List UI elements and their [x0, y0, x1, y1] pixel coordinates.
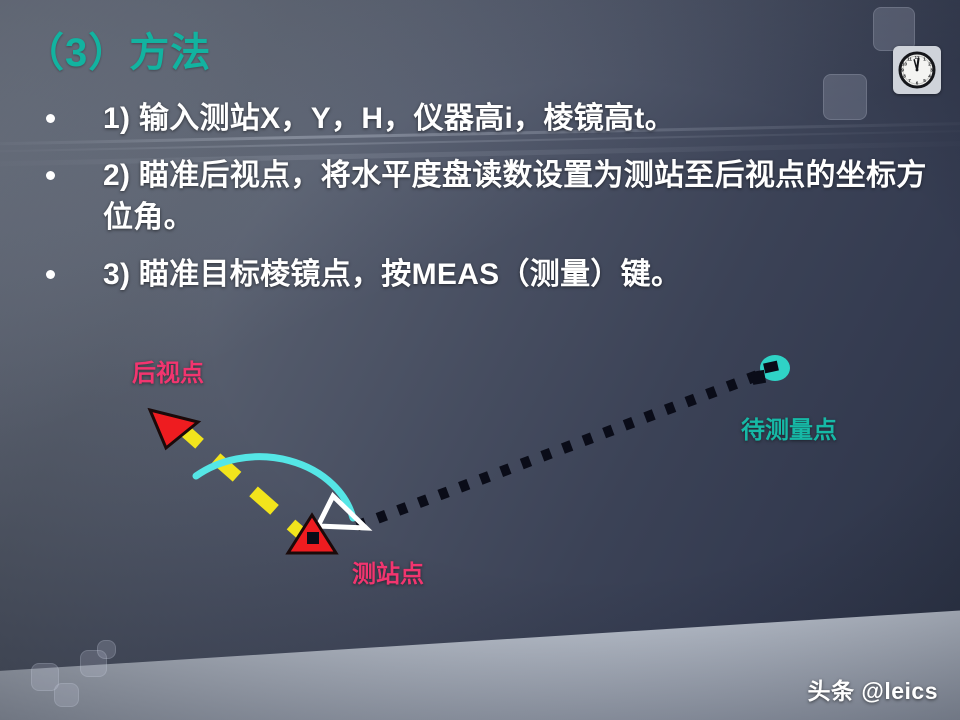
list-item-text: 2) 瞄准后视点，将水平度盘读数设置为测站至后视点的坐标方位角。 [103, 155, 946, 240]
svg-text:3: 3 [930, 68, 933, 73]
page-title: （3）方法 [24, 20, 211, 78]
svg-text:1: 1 [923, 57, 926, 62]
list-item: 2) 瞄准后视点，将水平度盘读数设置为测站至后视点的坐标方位角。 [46, 155, 946, 240]
bullet-list: 1) 输入测站X，Y，H，仪器高i，棱镜高t。 2) 瞄准后视点，将水平度盘读数… [46, 98, 946, 310]
svg-text:7: 7 [908, 78, 911, 83]
backsight-label: 后视点 [132, 353, 204, 388]
watermark: 头条 @leics [808, 672, 938, 706]
svg-text:6: 6 [916, 80, 919, 85]
sight-line [357, 370, 772, 526]
svg-text:9: 9 [901, 68, 904, 73]
svg-text:8: 8 [903, 74, 906, 79]
clock-icon: 12 1 2 3 4 5 6 7 8 9 10 11 [893, 46, 941, 94]
list-item-text: 3) 瞄准目标棱镜点，按MEAS（测量）键。 [103, 254, 946, 297]
target-marker [751, 355, 790, 385]
svg-text:2: 2 [928, 62, 931, 67]
list-item-text: 1) 输入测站X，Y，H，仪器高i，棱镜高t。 [103, 98, 946, 141]
list-item: 3) 瞄准目标棱镜点，按MEAS（测量）键。 [46, 254, 946, 297]
bullet-dot-icon [46, 270, 55, 279]
svg-text:10: 10 [902, 62, 908, 67]
slide-canvas: 12 1 2 3 4 5 6 7 8 9 10 11 （3）方法 [0, 0, 960, 720]
station-point-label: 测站点 [352, 554, 424, 589]
bullet-dot-icon [46, 171, 55, 180]
svg-text:11: 11 [907, 57, 912, 62]
svg-text:5: 5 [923, 78, 926, 83]
svg-text:4: 4 [928, 74, 931, 79]
bullet-dot-icon [46, 114, 55, 123]
target-point-label: 待测量点 [741, 410, 837, 445]
backsight-line [175, 422, 312, 543]
list-item: 1) 输入测站X，Y，H，仪器高i，棱镜高t。 [46, 98, 946, 141]
